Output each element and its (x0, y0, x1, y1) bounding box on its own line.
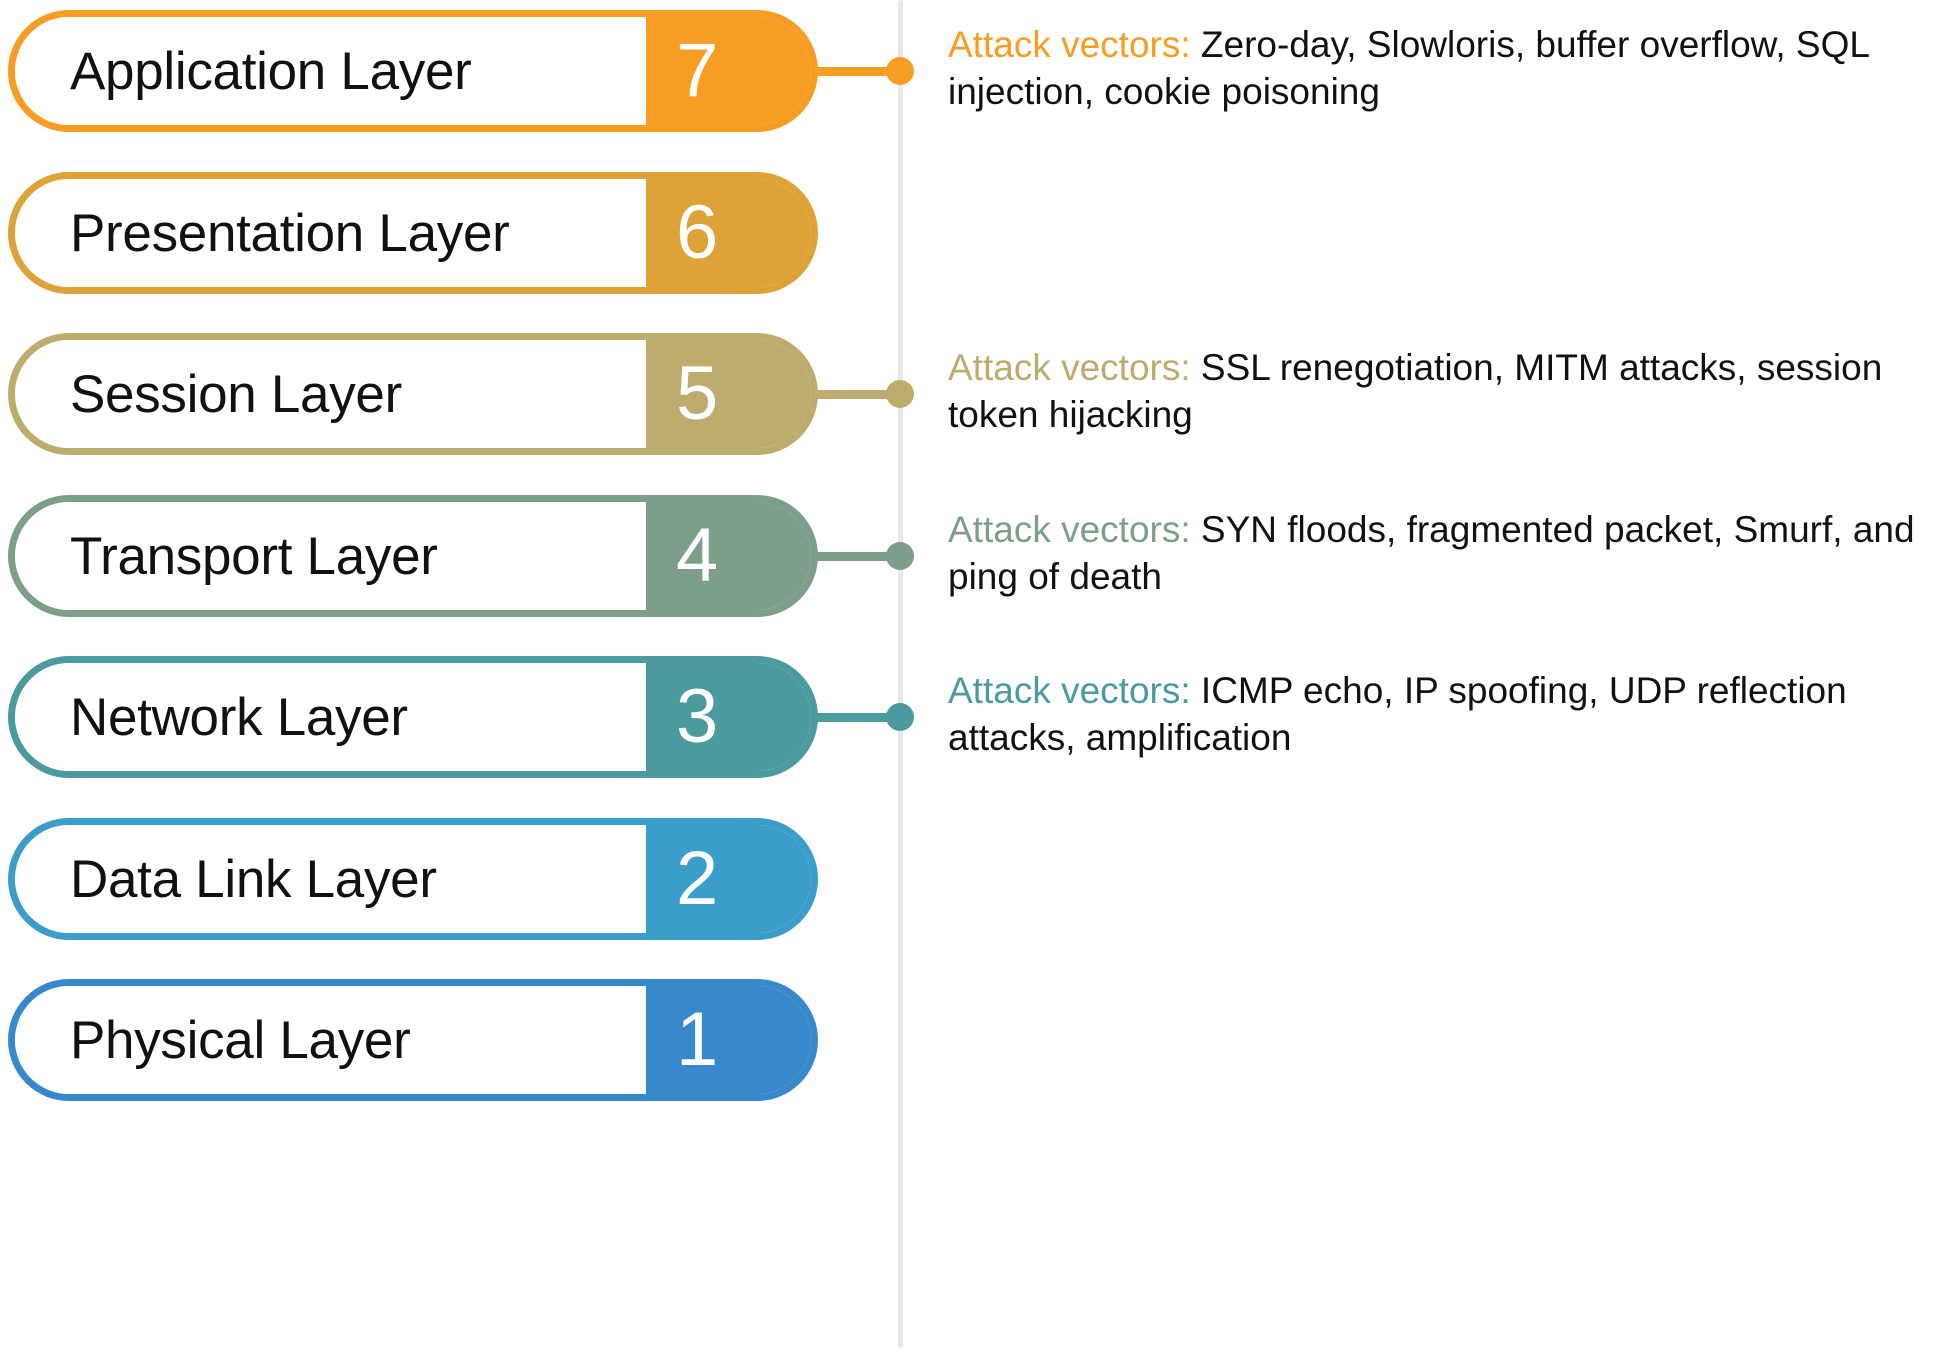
layer-label-container: Presentation Layer (15, 179, 646, 287)
layer-name: Data Link Layer (70, 849, 437, 910)
annotation-prefix: Attack vectors: (948, 24, 1191, 65)
layer-label-container: Data Link Layer (15, 825, 646, 933)
connector-dot-3 (886, 703, 914, 731)
layer-number-container: 3 (646, 663, 811, 771)
layer-number-container: 1 (646, 986, 811, 1094)
layer-number: 4 (676, 518, 718, 594)
layer-name: Network Layer (70, 687, 408, 748)
layer-pill-7[interactable]: Application Layer7 (8, 10, 818, 132)
layer-name: Physical Layer (70, 1010, 410, 1071)
layer-name: Session Layer (70, 364, 402, 425)
annotation-prefix: Attack vectors: (948, 347, 1191, 388)
connector-dot-5 (886, 380, 914, 408)
layer-label-container: Network Layer (15, 663, 646, 771)
layer-pill-3[interactable]: Network Layer3 (8, 656, 818, 778)
layer-pill-1[interactable]: Physical Layer1 (8, 979, 818, 1101)
layer-label-container: Session Layer (15, 340, 646, 448)
layer-number-container: 7 (646, 17, 811, 125)
layer-pill-2[interactable]: Data Link Layer2 (8, 818, 818, 940)
connector-dot-4 (886, 542, 914, 570)
layer-label-container: Application Layer (15, 17, 646, 125)
layer-number-container: 5 (646, 340, 811, 448)
annotation-prefix: Attack vectors: (948, 670, 1191, 711)
layer-label-container: Physical Layer (15, 986, 646, 1094)
annotation-prefix: Attack vectors: (948, 509, 1191, 550)
vertical-divider-rail (898, 0, 903, 1348)
annotation-3: Attack vectors: ICMP echo, IP spoofing, … (948, 667, 1939, 762)
layer-number: 7 (676, 33, 718, 109)
layer-number: 1 (676, 1002, 718, 1078)
layer-number: 5 (676, 356, 718, 432)
layer-pill-5[interactable]: Session Layer5 (8, 333, 818, 455)
annotation-7: Attack vectors: Zero-day, Slowloris, buf… (948, 21, 1939, 116)
layer-number: 2 (676, 841, 718, 917)
layer-name: Transport Layer (70, 526, 438, 587)
layer-name: Presentation Layer (70, 203, 510, 264)
layer-pill-4[interactable]: Transport Layer4 (8, 495, 818, 617)
annotation-5: Attack vectors: SSL renegotiation, MITM … (948, 344, 1939, 439)
connector-dot-7 (886, 57, 914, 85)
layer-number-container: 4 (646, 502, 811, 610)
layer-number: 6 (676, 195, 718, 271)
annotation-4: Attack vectors: SYN floods, fragmented p… (948, 506, 1939, 601)
layer-name: Application Layer (70, 41, 471, 102)
layer-number-container: 2 (646, 825, 811, 933)
layer-label-container: Transport Layer (15, 502, 646, 610)
layer-number: 3 (676, 679, 718, 755)
layer-number-container: 6 (646, 179, 811, 287)
osi-layers-diagram: Application Layer7Presentation Layer6Ses… (0, 0, 1939, 1358)
layer-pill-6[interactable]: Presentation Layer6 (8, 172, 818, 294)
